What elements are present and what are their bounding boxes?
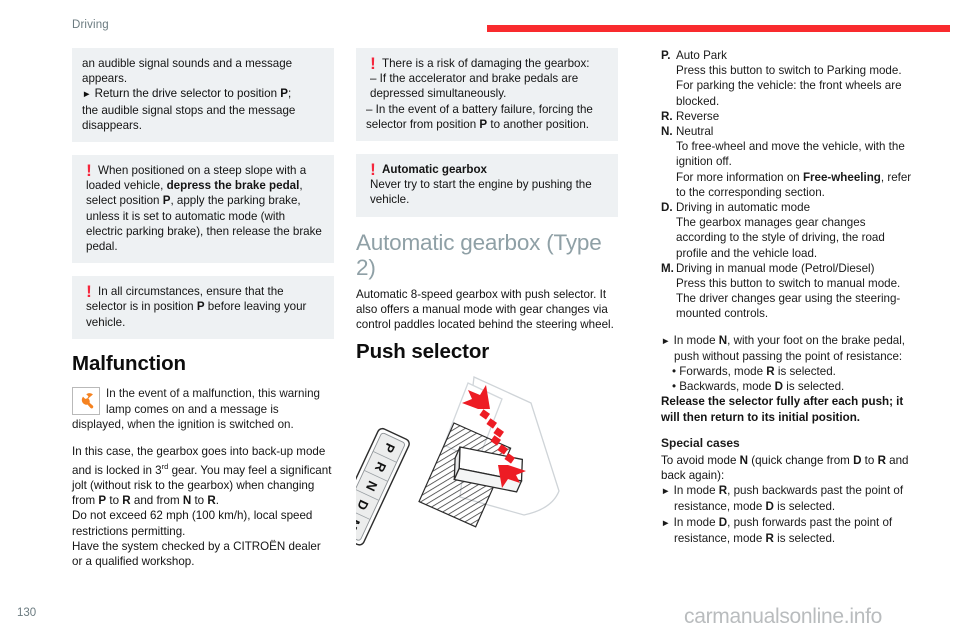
text-run: (quick change from — [748, 454, 853, 467]
arrow-icon: ► — [661, 518, 670, 529]
mode-detail: For parking the vehicle: the front wheel… — [676, 78, 913, 108]
warning-icon: ! — [366, 56, 380, 71]
position-label: R — [122, 494, 130, 507]
column-2: ! There is a risk of damaging the gearbo… — [356, 48, 618, 557]
position-label: D — [775, 380, 783, 393]
page-title: Automatic gearbox (Type 2) — [356, 230, 618, 280]
note-body: When positioned on a steep slope with a … — [82, 163, 324, 254]
note-line: an audible signal sounds and a message — [82, 56, 324, 71]
note-bold-title: Automatic gearbox — [382, 163, 487, 176]
mode-row-park: P. Auto Park — [661, 48, 913, 63]
chapter-title: Driving — [72, 19, 109, 31]
mode-name: Reverse — [676, 109, 913, 124]
position-label: R — [766, 365, 774, 378]
malfunction-heading: Malfunction — [72, 352, 334, 375]
note-line: – If the accelerator and brake pedals ar… — [366, 71, 608, 101]
mode-name: Driving in automatic mode — [676, 200, 913, 215]
mode-name: Driving in manual mode (Petrol/Diesel) — [676, 261, 913, 276]
bullet-icon: • — [672, 380, 676, 393]
mode-key: D. — [661, 200, 676, 215]
intro-paragraph: Automatic 8-speed gearbox with push sele… — [356, 287, 618, 333]
note-body: Never try to start the engine by pushing… — [366, 177, 608, 207]
text-run: In mode — [674, 516, 719, 529]
special-step-2: ► In mode D, push forwards past the poin… — [661, 515, 913, 546]
text-run: Backwards, mode — [679, 380, 774, 393]
cross-reference: Free-wheeling — [803, 171, 881, 184]
note-arrow-item: ► Return the drive selector to position … — [82, 86, 324, 102]
special-cases-heading: Special cases — [661, 436, 913, 451]
note-text: to another position. — [487, 118, 589, 131]
position-label: R — [207, 494, 215, 507]
malfunction-para: In the event of a malfunction, this warn… — [72, 386, 334, 432]
text-run: Forwards, mode — [679, 365, 766, 378]
warning-icon: ! — [82, 284, 96, 299]
text-run: For more information on — [676, 171, 803, 184]
mode-name: Neutral — [676, 124, 913, 139]
malfunction-para: Have the system checked by a CITROËN dea… — [72, 539, 334, 569]
header-red-rule — [487, 25, 950, 32]
mode-detail: Press this button to switch to Parking m… — [676, 63, 913, 78]
mode-detail: The gearbox manages gear changes accordi… — [676, 215, 913, 261]
push-selector-heading: Push selector — [356, 340, 618, 363]
text-run: is selected. — [783, 380, 844, 393]
mode-row-manual: M. Driving in manual mode (Petrol/Diesel… — [661, 261, 913, 276]
column-1: an audible signal sounds and a message a… — [72, 48, 334, 569]
note-text: Return the drive selector to position — [95, 87, 281, 100]
text-run: to — [106, 494, 122, 507]
note-box-selector-park: ! In all circumstances, ensure that the … — [72, 276, 334, 339]
mode-name: Auto Park — [676, 48, 913, 63]
note-box-automatic-gearbox: ! Automatic gearbox Never try to start t… — [356, 154, 618, 217]
text-run: is selected. — [774, 532, 835, 545]
text-run: To avoid mode — [661, 454, 740, 467]
position-label: P — [98, 494, 106, 507]
position-label: N — [183, 494, 191, 507]
gear-mode-list: P. Auto Park Press this button to switch… — [661, 48, 913, 322]
mode-detail: For more information on Free-wheeling, r… — [676, 170, 913, 200]
mode-key: M. — [661, 261, 676, 276]
malfunction-para: In this case, the gearbox goes into back… — [72, 444, 334, 509]
malfunction-para: Do not exceed 62 mph (100 km/h), local s… — [72, 508, 334, 538]
position-label: N — [719, 334, 727, 347]
position-label: R — [878, 454, 886, 467]
page-number: 130 — [17, 607, 36, 619]
mode-row-reverse: R. Reverse — [661, 109, 913, 124]
note-text: ; — [288, 87, 291, 100]
position-label: D — [766, 500, 774, 513]
position-label: R — [719, 484, 727, 497]
instruction-arrow-item: ► In mode N, with your foot on the brake… — [661, 333, 913, 364]
position-label: R — [766, 532, 774, 545]
special-step-1: ► In mode R, push backwards past the poi… — [661, 483, 913, 514]
arrow-icon: ► — [82, 89, 91, 100]
text-run: . — [216, 494, 219, 507]
site-watermark: carmanualsonline.info — [684, 605, 882, 629]
column-3: P. Auto Park Press this button to switch… — [661, 48, 913, 546]
note-body: In all circumstances, ensure that the se… — [82, 284, 324, 330]
bullet-forwards: • Forwards, mode R is selected. — [661, 364, 913, 379]
special-cases-intro: To avoid mode N (quick change from D to … — [661, 453, 913, 483]
bullet-icon: • — [672, 365, 676, 378]
mode-key: N. — [661, 124, 676, 139]
malfunction-block: In the event of a malfunction, this warn… — [72, 386, 334, 569]
position-label: D — [719, 516, 727, 529]
text-run: is selected. — [774, 500, 835, 513]
position-label: N — [740, 454, 748, 467]
note-box-gearbox-damage: ! There is a risk of damaging the gearbo… — [356, 48, 618, 141]
arrow-icon: ► — [661, 486, 670, 497]
release-selector-note: Release the selector fully after each pu… — [661, 394, 913, 424]
position-label: P — [479, 118, 487, 131]
warning-icon: ! — [366, 162, 380, 177]
note-line: There is a risk of damaging the gearbox: — [366, 56, 608, 71]
wrench-icon — [72, 387, 100, 415]
note-bold: depress the brake pedal — [167, 179, 300, 192]
note-title: Automatic gearbox — [366, 162, 608, 177]
note-line: appears. — [82, 71, 324, 86]
bullet-backwards: • Backwards, mode D is selected. — [661, 379, 913, 394]
mode-key: R. — [661, 109, 676, 124]
mode-row-neutral: N. Neutral — [661, 124, 913, 139]
arrow-icon: ► — [661, 336, 670, 347]
page-header: Driving — [0, 0, 960, 34]
warning-icon: ! — [82, 163, 96, 178]
text-run: is selected. — [775, 365, 836, 378]
note-line: disappears. — [82, 118, 324, 133]
note-box-audible-signal: an audible signal sounds and a message a… — [72, 48, 334, 142]
mode-key: P. — [661, 48, 676, 63]
mode-row-drive: D. Driving in automatic mode — [661, 200, 913, 215]
mode-detail: To free-wheel and move the vehicle, with… — [676, 139, 913, 169]
position-label: P — [280, 87, 288, 100]
note-line: the audible signal stops and the message — [82, 103, 324, 118]
text-run: and from — [131, 494, 183, 507]
text-run: to — [861, 454, 877, 467]
note-box-steep-slope: ! When positioned on a steep slope with … — [72, 155, 334, 263]
text-run: to — [191, 494, 207, 507]
mode-detail: The driver changes gear using the steeri… — [676, 291, 913, 321]
text-run: In mode — [674, 484, 719, 497]
position-label: P — [197, 300, 205, 313]
mode-detail: Press this button to switch to manual mo… — [676, 276, 913, 291]
text-run: In mode — [674, 334, 719, 347]
push-selector-diagram: P R N D M — [356, 369, 618, 547]
note-line: – In the event of a battery failure, for… — [366, 102, 608, 132]
